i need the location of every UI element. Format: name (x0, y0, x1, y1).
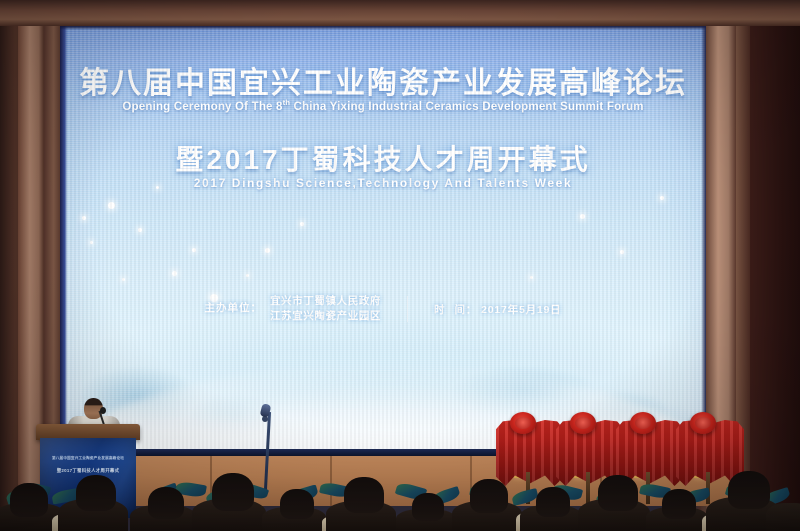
date-value: 2017年5月19日 (481, 302, 561, 317)
organizer-line-2: 江苏宜兴陶瓷产业园区 (270, 309, 381, 324)
organizer-block: 主办单位： 宜兴市丁蜀镇人民政府 江苏宜兴陶瓷产业园区 (205, 294, 382, 324)
audience-head (412, 493, 444, 521)
audience-head (536, 487, 570, 517)
screen-footer-info: 主办单位： 宜兴市丁蜀镇人民政府 江苏宜兴陶瓷产业园区 时 间： 2017年5月… (60, 294, 706, 324)
title-en-part2: China Yixing Industrial Ceramics Develop… (290, 101, 643, 113)
organizer-line-1: 宜兴市丁蜀镇人民政府 (270, 294, 381, 309)
footer-divider (407, 296, 408, 322)
audience-head (728, 471, 770, 509)
screen-edge-left (60, 26, 67, 449)
podium-microphone-icon (100, 407, 106, 414)
sparkle-particle (82, 216, 86, 220)
photo-scene: 第八届中国宜兴工业陶瓷产业发展高峰论坛 Opening Ceremony Of … (0, 0, 800, 531)
led-backdrop-screen: 第八届中国宜兴工业陶瓷产业发展高峰论坛 Opening Ceremony Of … (60, 26, 706, 449)
audience-head (470, 479, 508, 513)
screen-title-english: Opening Ceremony Of The 8th China Yixing… (60, 98, 706, 113)
sparkle-particle (580, 214, 585, 219)
audience-head (148, 487, 184, 519)
screen-edge-top (60, 26, 706, 30)
wall-left-dark (0, 0, 19, 531)
audience-head (344, 477, 384, 513)
screen-subtitle-chinese: 暨2017丁蜀科技人才周开幕式 (60, 138, 706, 178)
audience-head (10, 483, 48, 517)
wall-right-dark (750, 0, 800, 531)
audience-shoulders (766, 503, 800, 531)
red-rosette-icon (690, 412, 716, 434)
sparkle-particle (90, 241, 93, 244)
audience-head (598, 475, 638, 511)
screen-edge-right (701, 26, 706, 449)
sparkle-particle (192, 248, 196, 252)
sparkle-particle (265, 248, 270, 253)
audience-head (76, 475, 116, 511)
sparkle-particle (246, 274, 249, 277)
wall-top-molding (0, 0, 800, 26)
podium-banner-line-1: 第八届中国宜兴工业陶瓷产业发展高峰论坛 (42, 456, 134, 461)
sparkle-particle (138, 228, 142, 232)
date-label-a: 时 (434, 302, 451, 317)
red-rosette-icon (570, 412, 596, 434)
organizer-names: 宜兴市丁蜀镇人民政府 江苏宜兴陶瓷产业园区 (270, 294, 381, 324)
event-date-block: 时 间： 2017年5月19日 (434, 302, 562, 317)
sparkle-particle (122, 278, 125, 281)
screen-title-chinese: 第八届中国宜兴工业陶瓷产业发展高峰论坛 (60, 58, 706, 102)
red-rosette-icon (630, 412, 656, 434)
sparkle-particle (530, 276, 533, 279)
date-label-b: 间： (455, 302, 478, 317)
sparkle-particle (620, 250, 624, 254)
sparkle-particle (300, 222, 304, 226)
sparkle-particle (172, 271, 177, 276)
sparkle-particle (108, 202, 115, 209)
screen-subtitle-english: 2017 Dingshu Science,Technology And Tale… (60, 176, 706, 190)
sparkle-particle (660, 196, 664, 200)
title-en-part1: Opening Ceremony Of The 8 (122, 101, 282, 113)
red-rosette-icon (510, 412, 536, 434)
audience-head (280, 489, 314, 519)
audience-silhouettes (0, 469, 800, 531)
audience-head (662, 489, 696, 519)
audience-head (212, 473, 254, 511)
organizer-label: 主办单位： (205, 294, 263, 315)
